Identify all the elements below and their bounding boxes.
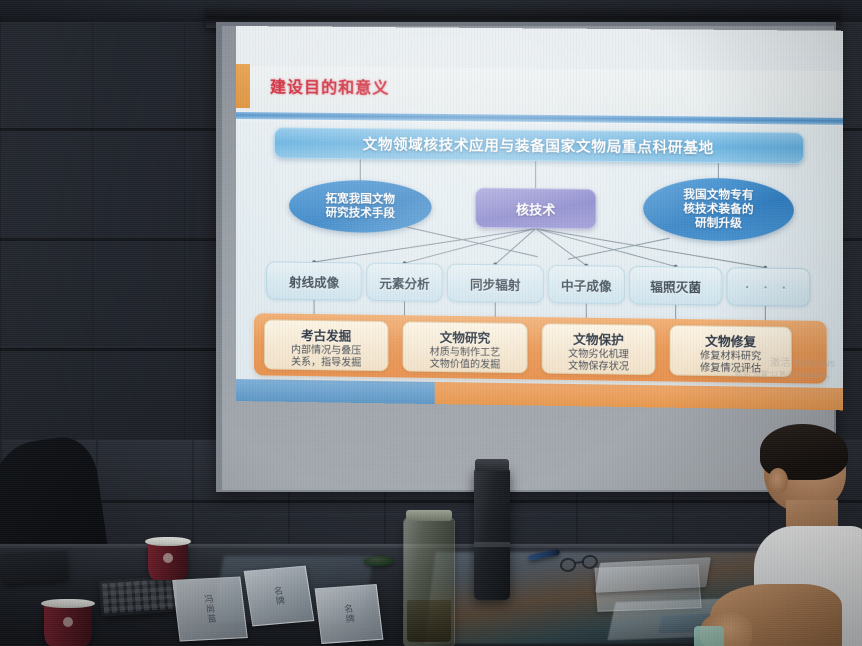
- paper-cup-front: [44, 604, 92, 646]
- lens-left: [559, 557, 577, 573]
- thermos-ring: [474, 542, 510, 547]
- name-card: 冯尚苗: [172, 576, 248, 641]
- app-heading: 考古发掘: [301, 324, 351, 344]
- node-line-1: 核技术: [516, 199, 555, 219]
- app-line-2: 文物保存状况: [568, 360, 629, 373]
- tea-leaves: [407, 600, 451, 642]
- keyboard-secondary: [1, 550, 68, 583]
- tech-box-synchrotron: 同步辐射: [447, 264, 544, 303]
- cup-logo-icon: [163, 553, 173, 563]
- name-card-label: 冯尚苗: [201, 594, 219, 625]
- node-line-3: 研制升级: [695, 216, 742, 231]
- tea-tumbler: [404, 518, 454, 646]
- tech-box-neutron-imaging: 中子成像: [548, 265, 625, 304]
- tumbler-lid: [406, 510, 452, 521]
- diagram-node-nuclear-technology: 核技术: [475, 188, 596, 230]
- app-line-1: 材质与制作工艺: [430, 346, 501, 359]
- thermos-flask: [474, 468, 510, 600]
- name-card-label: 名牌: [341, 603, 357, 624]
- tech-box-irradiation: 辐照灭菌: [629, 266, 723, 306]
- projected-slide: 建设目的和意义: [236, 26, 843, 410]
- tablet-device: [595, 557, 711, 593]
- name-card: 名牌: [244, 566, 315, 627]
- title-accent-bar: [236, 64, 250, 108]
- node-line-2: 研究技术手段: [326, 206, 395, 221]
- watermark-line-2: 转到"设置"以激活 Windows。: [735, 368, 835, 381]
- person-ear: [768, 468, 788, 494]
- app-line-2: 文物价值的发掘: [430, 358, 501, 371]
- tech-box-element-analysis: 元素分析: [366, 263, 442, 302]
- microphone: [364, 556, 394, 566]
- app-box-relic-research: 文物研究 材质与制作工艺 文物价值的发掘: [402, 321, 527, 373]
- node-line-2: 核技术装备的: [683, 202, 753, 217]
- app-heading: 文物修复: [705, 330, 756, 350]
- conference-room-photo: 建设目的和意义: [0, 0, 862, 646]
- app-line-1: 文物劣化机理: [568, 348, 629, 361]
- tech-box-ellipsis: · · ·: [727, 267, 811, 306]
- keyboard: [99, 575, 181, 616]
- tech-box-ray-imaging: 射线成像: [266, 261, 362, 300]
- node-line-1: 我国文物专有: [683, 188, 753, 203]
- app-line-2: 关系，指导发掘: [291, 356, 361, 369]
- thermos-cap: [475, 459, 509, 471]
- paper-cup-back: [148, 542, 188, 580]
- windows-activation-watermark: 激活 Windows 转到"设置"以激活 Windows。: [735, 357, 835, 381]
- cup-logo-icon: [63, 617, 73, 627]
- app-heading: 文物研究: [440, 326, 490, 346]
- app-box-archaeology: 考古发掘 内部情况与叠压 关系，指导发掘: [264, 319, 388, 371]
- app-line-1: 内部情况与叠压: [291, 344, 361, 357]
- app-box-conservation: 文物保护 文物劣化机理 文物保存状况: [542, 323, 656, 375]
- slide-title: 建设目的和意义: [270, 73, 389, 98]
- seated-person: [716, 430, 862, 646]
- person-cup: [694, 626, 724, 646]
- slide-diagram: 文物领域核技术应用与装备国家文物局重点科研基地 拓宽我国文物 研究技术手段 核技…: [236, 121, 843, 388]
- bottom-bar-blue: [236, 379, 435, 404]
- wall-panel-left: [0, 22, 240, 502]
- name-card: 名牌: [315, 584, 384, 644]
- node-line-1: 拓宽我国文物: [326, 192, 395, 207]
- app-heading: 文物保护: [573, 328, 624, 348]
- diagram-root-node: 文物领域核技术应用与装备国家文物局重点科研基地: [274, 127, 804, 164]
- name-card-label: 名牌: [271, 585, 288, 606]
